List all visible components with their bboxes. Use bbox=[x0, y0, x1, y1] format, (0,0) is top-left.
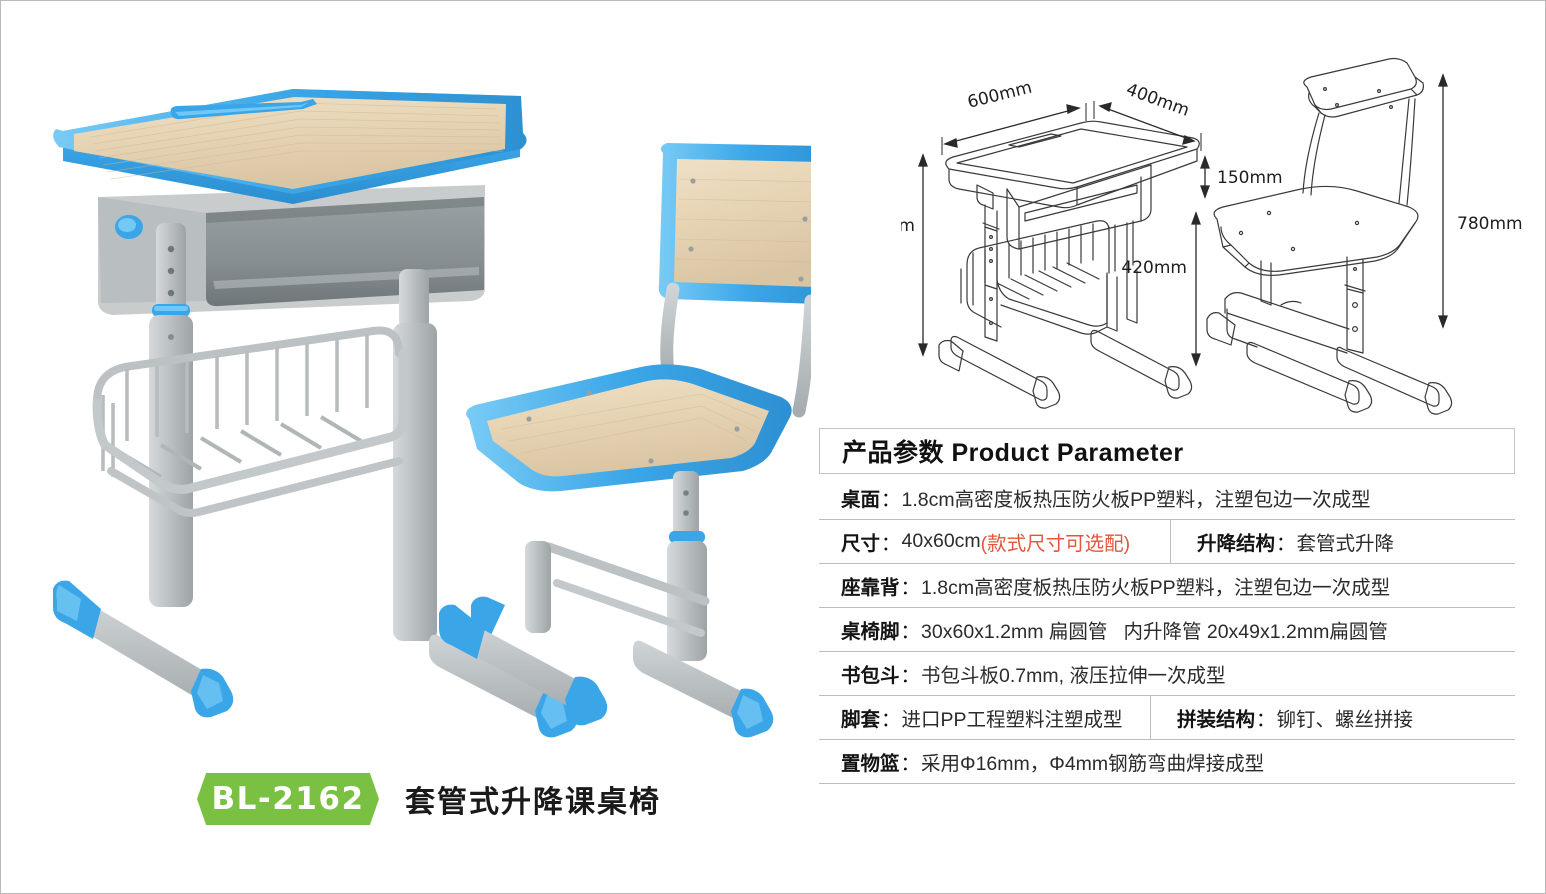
param-value: 进口PP工程塑料注塑成型 bbox=[902, 703, 1123, 732]
product-photo bbox=[1, 1, 811, 771]
param-separator: ： bbox=[1255, 703, 1277, 732]
param-label: 书包斗 bbox=[841, 659, 900, 688]
param-separator: ： bbox=[900, 747, 922, 776]
param-separator: ： bbox=[880, 483, 902, 512]
param-separator: ： bbox=[900, 659, 922, 688]
param-value: 30x60x1.2mm 扁圆管 bbox=[921, 615, 1107, 644]
param-cell: 桌椅脚：30x60x1.2mm 扁圆管内升降管 20x49x1.2mm扁圆管 bbox=[819, 608, 1515, 651]
param-table-title: 产品参数 Product Parameter bbox=[842, 433, 1184, 469]
param-label: 座靠背 bbox=[841, 571, 900, 600]
param-cell: 尺寸：40x60cm (款式尺寸可选配) bbox=[819, 520, 1171, 563]
param-table-body: 桌面：1.8cm高密度板热压防火板PP塑料，注塑包边一次成型尺寸：40x60cm… bbox=[819, 476, 1515, 784]
param-value-accent: (款式尺寸可选配) bbox=[981, 527, 1131, 556]
dim-label-420mm: 420mm bbox=[1121, 258, 1187, 278]
model-code-text: BL-2162 bbox=[211, 781, 364, 817]
height-adjust-collar bbox=[115, 215, 143, 239]
param-row: 桌椅脚：30x60x1.2mm 扁圆管内升降管 20x49x1.2mm扁圆管 bbox=[819, 608, 1515, 652]
param-cell: 书包斗：书包斗板0.7mm, 液压拉伸一次成型 bbox=[819, 652, 1515, 695]
desk-leg-tube-right bbox=[393, 269, 437, 641]
technical-drawings-illustration: 600mm 400mm 150mm 780mm 780mm 420mm bbox=[901, 37, 1529, 417]
param-value: 书包斗板0.7mm, 液压拉伸一次成型 bbox=[921, 659, 1225, 688]
model-row: BL-2162 套管式升降课桌椅 bbox=[197, 773, 661, 825]
param-separator: ： bbox=[900, 571, 922, 600]
param-row: 尺寸：40x60cm (款式尺寸可选配)升降结构：套管式升降 bbox=[819, 520, 1515, 564]
model-code-badge: BL-2162 bbox=[197, 773, 379, 825]
chair-backrest bbox=[659, 143, 811, 304]
param-cell: 升降结构：套管式升降 bbox=[1171, 520, 1515, 563]
technical-drawings: 600mm 400mm 150mm 780mm 780mm 420mm bbox=[901, 37, 1529, 417]
param-label: 桌面 bbox=[841, 483, 880, 512]
product-spec-page: BL-2162 套管式升降课桌椅 bbox=[0, 0, 1546, 894]
param-row: 桌面：1.8cm高密度板热压防火板PP塑料，注塑包边一次成型 bbox=[819, 476, 1515, 520]
param-cell: 脚套：进口PP工程塑料注塑成型 bbox=[819, 696, 1151, 739]
param-value: 套管式升降 bbox=[1297, 527, 1395, 556]
param-separator: ： bbox=[900, 615, 922, 644]
param-label: 置物篮 bbox=[841, 747, 900, 776]
product-parameter-table: 产品参数 Product Parameter 桌面：1.8cm高密度板热压防火板… bbox=[819, 428, 1515, 784]
dim-label-600mm: 600mm bbox=[966, 78, 1034, 113]
dim-label-150mm: 150mm bbox=[1217, 168, 1283, 188]
param-value: 1.8cm高密度板热压防火板PP塑料，注塑包边一次成型 bbox=[902, 483, 1371, 512]
dim-label-400mm: 400mm bbox=[1123, 80, 1191, 121]
wire-basket bbox=[97, 330, 403, 513]
param-value: 1.8cm高密度板热压防火板PP塑料，注塑包边一次成型 bbox=[921, 571, 1390, 600]
param-label: 升降结构 bbox=[1197, 527, 1275, 556]
param-row: 置物篮：采用Φ16mm，Φ4mm钢筋弯曲焊接成型 bbox=[819, 740, 1515, 784]
param-label: 尺寸 bbox=[841, 527, 880, 556]
param-row: 脚套：进口PP工程塑料注塑成型拼装结构：铆钉、螺丝拼接 bbox=[819, 696, 1515, 740]
dim-label-chair-780mm: 780mm bbox=[1457, 214, 1523, 234]
param-separator: ： bbox=[880, 527, 902, 556]
param-cell: 置物篮：采用Φ16mm，Φ4mm钢筋弯曲焊接成型 bbox=[819, 740, 1515, 783]
param-label: 拼装结构 bbox=[1177, 703, 1255, 732]
param-separator: ： bbox=[880, 703, 902, 732]
chair-seat bbox=[466, 364, 792, 491]
param-row: 书包斗：书包斗板0.7mm, 液压拉伸一次成型 bbox=[819, 652, 1515, 696]
param-value-extra: 内升降管 20x49x1.2mm扁圆管 bbox=[1123, 615, 1387, 644]
param-label: 脚套 bbox=[841, 703, 880, 732]
param-row: 座靠背：1.8cm高密度板热压防火板PP塑料，注塑包边一次成型 bbox=[819, 564, 1515, 608]
model-name-text: 套管式升降课桌椅 bbox=[405, 777, 661, 821]
product-photo-illustration bbox=[1, 1, 811, 771]
param-cell: 拼装结构：铆钉、螺丝拼接 bbox=[1151, 696, 1515, 739]
param-cell: 桌面：1.8cm高密度板热压防火板PP塑料，注塑包边一次成型 bbox=[819, 476, 1515, 519]
param-value: 采用Φ16mm，Φ4mm钢筋弯曲焊接成型 bbox=[921, 747, 1264, 776]
param-table-header: 产品参数 Product Parameter bbox=[819, 428, 1515, 474]
param-value: 铆钉、螺丝拼接 bbox=[1277, 703, 1414, 732]
param-cell: 座靠背：1.8cm高密度板热压防火板PP塑料，注塑包边一次成型 bbox=[819, 564, 1515, 607]
dim-label-desk-780mm: 780mm bbox=[901, 216, 915, 236]
param-separator: ： bbox=[1275, 527, 1297, 556]
param-value: 40x60cm bbox=[902, 530, 981, 553]
chair-post bbox=[525, 471, 707, 661]
param-label: 桌椅脚 bbox=[841, 615, 900, 644]
